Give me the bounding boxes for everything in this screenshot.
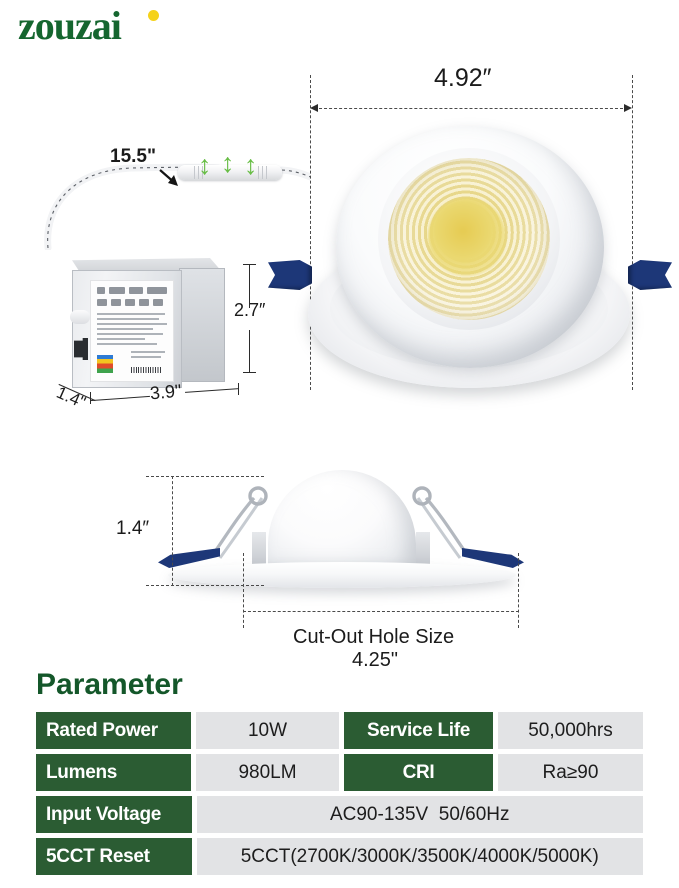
width-arrow-left-icon <box>310 104 318 112</box>
height-dimension-bottom-line <box>146 585 264 586</box>
width-arrow-right-icon <box>624 104 632 112</box>
cutout-extension-right <box>518 553 519 628</box>
brand-logo: zouzai <box>18 6 121 46</box>
cutout-dimension-line <box>243 611 519 612</box>
table-row: 5CCT Reset 5CCT(2700K/3000K/3500K/4000K/… <box>36 838 643 875</box>
param-key-service-life: Service Life <box>344 712 493 749</box>
label-text-line <box>97 313 165 315</box>
label-text-line <box>131 356 161 358</box>
led-lens-core <box>428 198 506 276</box>
driver-height-tick-top <box>243 264 256 265</box>
driver-height-label: 2.7″ <box>234 300 265 321</box>
cable-length-label: 15.5" <box>110 146 156 168</box>
driver-height-tick-bottom <box>243 372 256 373</box>
label-text-line <box>97 333 163 335</box>
cutout-extension-left <box>243 553 244 628</box>
certification-mark-icon <box>129 287 143 294</box>
driver-side-face <box>179 268 225 382</box>
label-text-line <box>131 351 165 353</box>
label-text-line <box>97 338 145 340</box>
downlight-side-view <box>150 470 530 600</box>
certification-mark-icon <box>125 299 135 306</box>
table-row: Lumens 980LM CRI Ra≥90 <box>36 754 643 791</box>
certification-mark-icon <box>139 299 149 306</box>
connector-rib <box>258 166 259 179</box>
table-row: Rated Power 10W Service Life 50,000hrs <box>36 712 643 749</box>
param-value-input-voltage: AC90-135V 50/60Hz <box>197 796 643 833</box>
rotation-arrow-icon: ↕ <box>198 152 212 179</box>
color-strip-icon <box>97 355 113 373</box>
label-text-line <box>97 328 153 330</box>
height-label: 1.4″ <box>116 518 149 540</box>
rotation-arrow-icon: ↕ <box>244 152 258 179</box>
param-value-5cct-reset: 5CCT(2700K/3000K/3500K/4000K/5000K) <box>197 838 643 875</box>
cutout-value: 4.25" <box>352 649 398 672</box>
driver-cable-gland <box>70 310 90 324</box>
certification-mark-icon <box>97 287 105 294</box>
led-driver-box <box>66 258 226 390</box>
certification-mark-icon <box>153 299 163 306</box>
driver-height-dimension-line <box>249 330 250 372</box>
connector-rib <box>262 166 263 179</box>
param-key-lumens: Lumens <box>36 754 191 791</box>
param-value-cri: Ra≥90 <box>498 754 643 791</box>
label-text-line <box>97 343 157 345</box>
height-dimension-line <box>172 476 173 586</box>
parameter-table: Rated Power 10W Service Life 50,000hrs L… <box>36 712 643 880</box>
downlight-fixture-top-view <box>300 120 640 390</box>
cutout-title: Cut-Out Hole Size <box>293 626 454 649</box>
logo-dot-icon <box>148 10 159 21</box>
parameter-title: Parameter <box>36 668 183 702</box>
width-dimension-line <box>314 108 628 109</box>
param-key-rated-power: Rated Power <box>36 712 191 749</box>
cable-length-arrow-icon <box>158 168 188 194</box>
driver-spec-label <box>90 280 174 382</box>
label-text-line <box>97 318 159 320</box>
param-value-lumens: 980LM <box>196 754 339 791</box>
param-key-5cct-reset: 5CCT Reset <box>36 838 192 875</box>
product-spec-page: zouzai 4.92″ ↕ ↕ ↕ 15.5" <box>0 0 679 888</box>
connector-rib <box>266 166 267 179</box>
certification-mark-icon <box>147 287 167 294</box>
rotation-arrow-icon: ↕ <box>221 150 235 177</box>
barcode-icon <box>131 367 161 373</box>
label-text-line <box>97 323 167 325</box>
connector-rib <box>194 166 195 179</box>
spring-clip-right <box>628 260 672 290</box>
height-dimension-top-line <box>146 476 264 477</box>
certification-mark-icon <box>97 299 107 306</box>
param-key-cri: CRI <box>344 754 493 791</box>
param-key-input-voltage: Input Voltage <box>36 796 192 833</box>
driver-width-label: 3.9" <box>149 381 182 405</box>
param-value-service-life: 50,000hrs <box>498 712 643 749</box>
driver-width-tick-right <box>238 383 239 395</box>
width-label: 4.92″ <box>434 64 492 93</box>
driver-connector-plug <box>74 338 88 360</box>
table-row: Input Voltage AC90-135V 50/60Hz <box>36 796 643 833</box>
certification-mark-icon <box>109 287 125 294</box>
param-value-rated-power: 10W <box>196 712 339 749</box>
certification-mark-icon <box>111 299 121 306</box>
driver-width-dimension-line <box>90 396 150 401</box>
spring-clip-left <box>268 260 312 290</box>
